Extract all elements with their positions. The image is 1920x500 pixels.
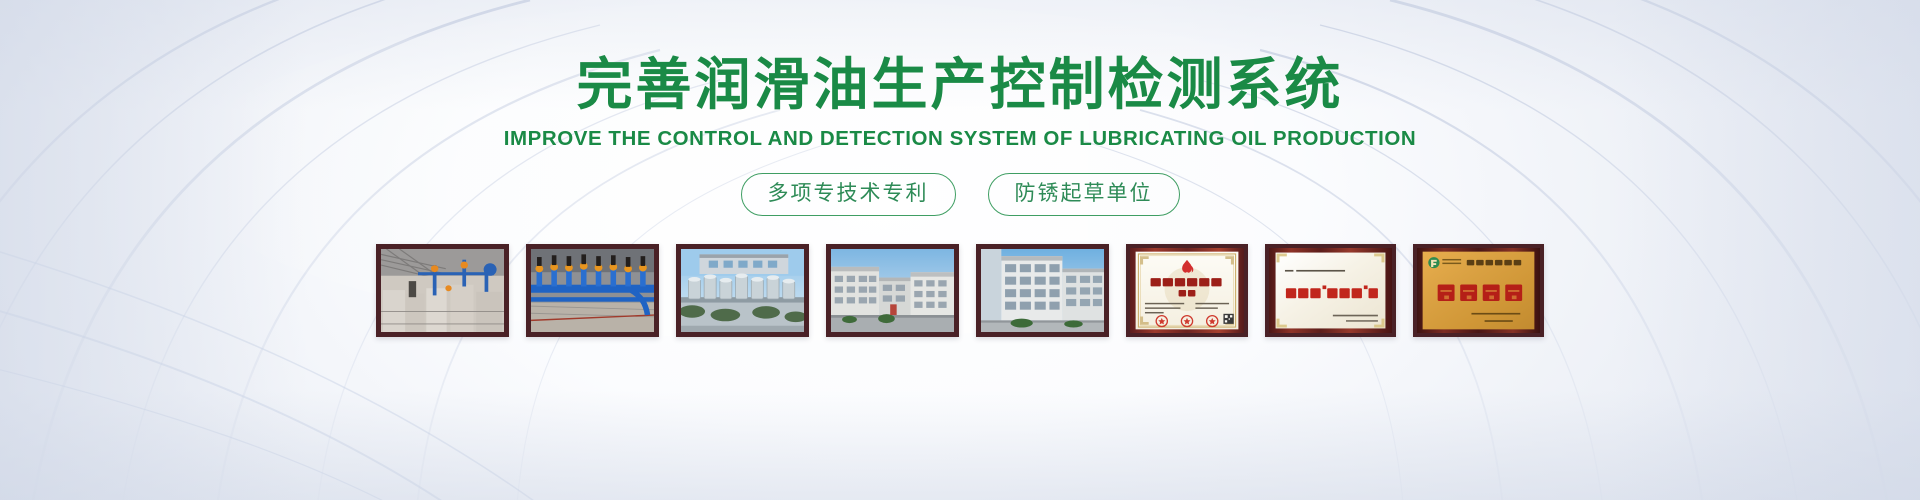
thumb-image-5: [981, 249, 1104, 332]
thumb-factory-building-4[interactable]: [826, 244, 959, 337]
plaque-gazelle-enterprise[interactable]: [1413, 244, 1544, 337]
pill-patents[interactable]: 多项专技术专利: [741, 173, 956, 216]
badge-pill-group: 多项专技术专利 防锈起草单位: [741, 173, 1180, 216]
pill-antirust-drafting-unit[interactable]: 防锈起草单位: [988, 173, 1180, 216]
page-title: 完善润滑油生产控制检测系统: [577, 54, 1344, 118]
page-subtitle: IMPROVE THE CONTROL AND DETECTION SYSTEM…: [504, 127, 1416, 151]
plaque-specialized-new-enterprise[interactable]: [1265, 244, 1396, 337]
banner-content: 完善润滑油生产控制检测系统 IMPROVE THE CONTROL AND DE…: [0, 0, 1920, 500]
thumb-image-3: [681, 249, 804, 332]
certificate-high-tech-enterprise[interactable]: [1126, 244, 1248, 337]
thumb-image-2: [531, 249, 654, 332]
thumb-storage-tanks-3[interactable]: [676, 244, 809, 337]
thumb-production-line-1[interactable]: [376, 244, 509, 337]
thumb-image-1: [381, 249, 504, 332]
thumb-office-building-5[interactable]: [976, 244, 1109, 337]
thumb-blue-piping-2[interactable]: [526, 244, 659, 337]
thumb-image-4: [831, 249, 954, 332]
hero-banner: 完善润滑油生产控制检测系统 IMPROVE THE CONTROL AND DE…: [0, 0, 1920, 500]
thumbnail-gallery: [376, 244, 1544, 337]
